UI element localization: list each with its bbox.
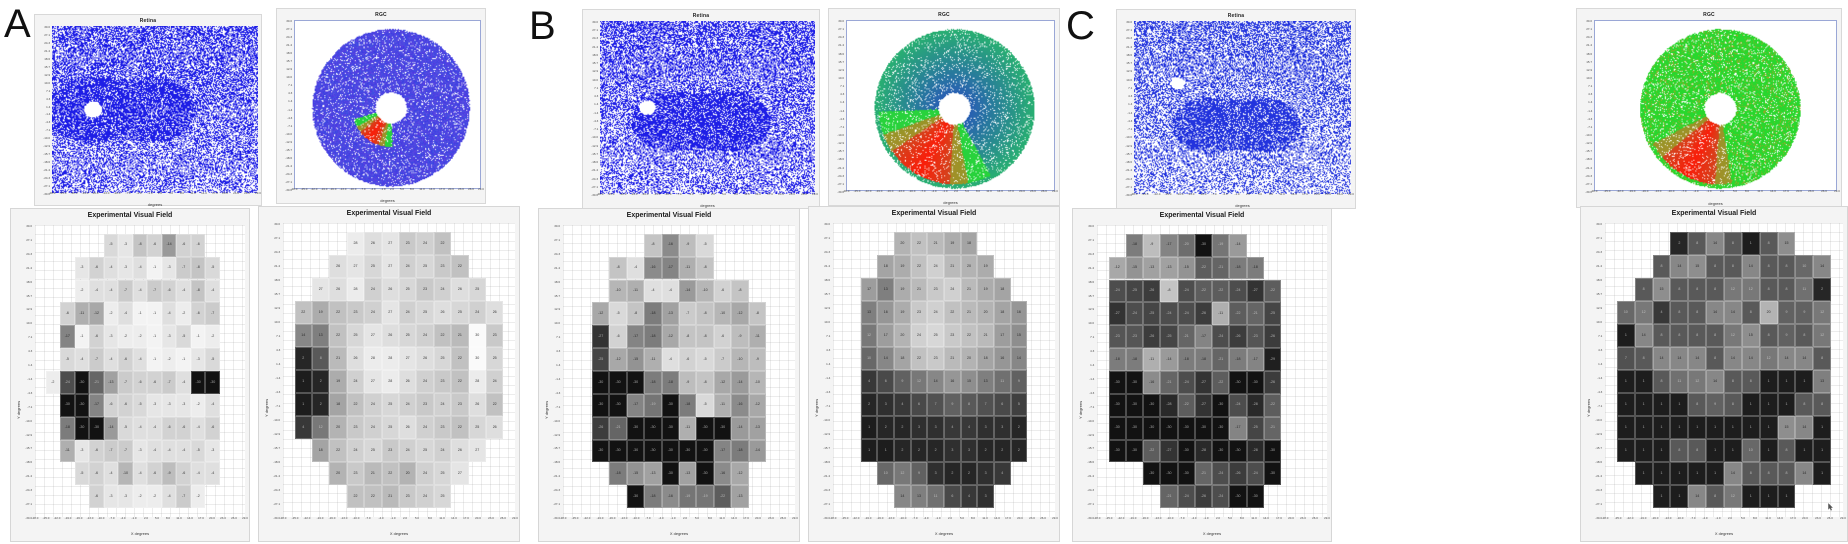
vf-cell: 1 bbox=[1742, 416, 1760, 439]
vf-cell: 24 bbox=[416, 416, 433, 439]
vf-cell: -8 bbox=[191, 257, 206, 280]
vf-cell: 12 bbox=[1724, 278, 1742, 301]
vf-cell: 24 bbox=[416, 485, 433, 508]
vf-cell: -26 bbox=[1143, 325, 1160, 348]
vf-cell: -6 bbox=[205, 417, 220, 440]
vf-cell: -17 bbox=[714, 440, 731, 463]
vf-cell: 22 bbox=[961, 324, 978, 347]
vf-left-grid-c: -18-9-17-20-30-19-14-12-15-13-13-15-22-2… bbox=[1097, 225, 1327, 517]
vf-cell: 1 bbox=[1688, 462, 1706, 485]
vf-cell: -8 bbox=[627, 302, 644, 325]
vf-cell: -21 bbox=[1247, 302, 1264, 325]
retina-yticks-a: 30.027.124.321.418.615.712.910.07.14.31.… bbox=[37, 26, 51, 193]
vf-cell: -24 bbox=[1229, 394, 1246, 417]
vf-cell: -16 bbox=[731, 394, 748, 417]
vf-cell: -6 bbox=[147, 234, 162, 257]
vf-cell: -6 bbox=[118, 394, 133, 417]
vf-left-xticks-a: -28.0-25.0-22.0-19.0-16.0-13.0-10.0-7.0-… bbox=[35, 517, 245, 527]
vf-cell: 8 bbox=[1778, 255, 1796, 278]
vf-cell: 8 bbox=[1653, 370, 1671, 393]
vf-cell: -30 bbox=[1212, 440, 1229, 463]
vf-cell: -16 bbox=[644, 257, 661, 280]
vf-cell: 15 bbox=[961, 370, 978, 393]
vf-cell: 6 bbox=[994, 393, 1011, 416]
vf-cell: -21 bbox=[1160, 371, 1177, 394]
vf-cell: -24 bbox=[1109, 280, 1126, 303]
vf-cell: 17 bbox=[877, 324, 894, 347]
vf-cell: -30 bbox=[60, 394, 75, 417]
vf-cell: -30 bbox=[1126, 394, 1143, 417]
vf-cell: 8 bbox=[1778, 439, 1796, 462]
retina-scatter-a bbox=[52, 26, 258, 193]
vf-left-xlabel-c: X degrees bbox=[1097, 531, 1327, 536]
vf-cell: -4 bbox=[133, 462, 148, 485]
vf-cell: -30 bbox=[1264, 462, 1281, 485]
vf-cell: -6 bbox=[133, 371, 148, 394]
vf-cell: 8 bbox=[1653, 255, 1671, 278]
vf-cell: 23 bbox=[944, 324, 961, 347]
vf-cell: 22 bbox=[451, 347, 468, 370]
vf-cell: 25 bbox=[451, 301, 468, 324]
vf-cell: 24 bbox=[434, 393, 451, 416]
vf-right-plot-b: 2022211918181922242120191713192123242119… bbox=[833, 223, 1055, 517]
vf-cell: 12 bbox=[1760, 347, 1778, 370]
vf-cell: 24 bbox=[399, 439, 416, 462]
vf-cell: 1 bbox=[1724, 439, 1742, 462]
vf-cell: -30 bbox=[1109, 394, 1126, 417]
vf-cell: 15 bbox=[1688, 255, 1706, 278]
vf-cell: -4 bbox=[133, 417, 148, 440]
vf-cell: 1 bbox=[1724, 416, 1742, 439]
vf-cell: -4 bbox=[89, 280, 104, 303]
vf-cell: 8 bbox=[1706, 347, 1724, 370]
vf-cell: -13 bbox=[662, 302, 679, 325]
vf-cell: -20 bbox=[1178, 234, 1195, 257]
vf-cell: 11 bbox=[1795, 278, 1813, 301]
vf-cell: 25 bbox=[434, 347, 451, 370]
vf-cell: -28 bbox=[1195, 440, 1212, 463]
vf-cell: -2 bbox=[191, 394, 206, 417]
vf-cell: -4 bbox=[176, 371, 191, 394]
vf-cell: 23 bbox=[927, 278, 944, 301]
vf-cell: -6 bbox=[162, 417, 177, 440]
vf-cell: 16 bbox=[994, 347, 1011, 370]
vf-cell: -18 bbox=[1126, 234, 1143, 257]
vf-cell: -5 bbox=[609, 302, 626, 325]
vf-cell: 19 bbox=[312, 301, 329, 324]
vf-cell: 27 bbox=[364, 324, 381, 347]
vf-cell: 2 bbox=[312, 370, 329, 393]
vf-cell: -12 bbox=[592, 302, 609, 325]
vf-cell: -5 bbox=[205, 348, 220, 371]
vf-cell: 14 bbox=[1688, 347, 1706, 370]
vf-cell: -29 bbox=[1264, 348, 1281, 371]
vf-cell: -30 bbox=[592, 394, 609, 417]
vf-cell: 1 bbox=[1688, 416, 1706, 439]
vf-cell: -27 bbox=[1109, 302, 1126, 325]
vf-cell: 14 bbox=[927, 370, 944, 393]
vf-cell: -18 bbox=[644, 371, 661, 394]
vf-cell: -6 bbox=[118, 348, 133, 371]
vf-cell: -8 bbox=[749, 302, 766, 325]
vf-cell: 14 bbox=[295, 324, 312, 347]
vf-cell: -24 bbox=[1178, 371, 1195, 394]
retina-xticks-c: -28.0-25.0-22.0-19.0-16.0-13.0-10.0-7.0-… bbox=[1134, 193, 1351, 203]
vf-cell: 3 bbox=[961, 439, 978, 462]
vf-cell: -16 bbox=[714, 462, 731, 485]
retina-figure-a: Retina 30.027.124.321.418.615.712.910.07… bbox=[34, 14, 262, 206]
vf-cell: 1 bbox=[1778, 485, 1796, 508]
vf-cell: -26 bbox=[1195, 485, 1212, 508]
vf-cell: -30 bbox=[662, 417, 679, 440]
vf-cell: 24 bbox=[927, 255, 944, 278]
vf-right-xticks-a: -28.0-25.0-22.0-19.0-16.0-13.0-10.0-7.0-… bbox=[283, 517, 515, 527]
vf-cell: -27 bbox=[1195, 394, 1212, 417]
vf-cell: 14 bbox=[1724, 301, 1742, 324]
vf-cell: 14 bbox=[894, 485, 911, 508]
vf-cell: -22 bbox=[1212, 371, 1229, 394]
vf-cell: 24 bbox=[364, 278, 381, 301]
vf-cell: -11 bbox=[679, 257, 696, 280]
polar-figure-b: RGC 30.027.124.321.418.615.712.910.07.14… bbox=[828, 8, 1060, 206]
vf-cell: 4 bbox=[961, 416, 978, 439]
vf-cell: -30 bbox=[1247, 371, 1264, 394]
vf-cell: -25 bbox=[1126, 280, 1143, 303]
vf-cell: -22 bbox=[1229, 302, 1246, 325]
vf-cell: -4 bbox=[133, 280, 148, 303]
vf-cell: -2 bbox=[133, 325, 148, 348]
polar-xticks-c: -28.0-25.0-22.0-19.0-16.0-13.0-10.0-7.0-… bbox=[1594, 190, 1837, 200]
vf-left-figure-a: Experimental Visual Field Y degrees 30.0… bbox=[10, 208, 250, 542]
vf-cell: 7 bbox=[927, 393, 944, 416]
vf-cell: 21 bbox=[382, 485, 399, 508]
vf-left-figure-b: Experimental Visual Field Y degrees 30.0… bbox=[538, 208, 800, 542]
vf-cell: 25 bbox=[416, 301, 433, 324]
vf-cell: 17 bbox=[994, 324, 1011, 347]
vf-cell: -7 bbox=[147, 280, 162, 303]
vf-left-figure-c: Experimental Visual Field Y degrees 30.0… bbox=[1072, 208, 1332, 542]
retina-yticks-c: 30.027.124.321.418.615.712.910.07.14.31.… bbox=[1119, 21, 1133, 194]
vf-cell: 30 bbox=[469, 347, 486, 370]
vf-cell: 22 bbox=[434, 324, 451, 347]
vf-cell: 11 bbox=[1670, 370, 1688, 393]
vf-cell: -13 bbox=[104, 371, 119, 394]
vf-cell: -6 bbox=[176, 234, 191, 257]
vf-cell: -9 bbox=[162, 462, 177, 485]
vf-cell: -1 bbox=[133, 302, 148, 325]
vf-cell: 1 bbox=[1635, 393, 1653, 416]
vf-cell: 8 bbox=[1724, 393, 1742, 416]
vf-cell: 25 bbox=[469, 416, 486, 439]
vf-cell: 3 bbox=[911, 416, 928, 439]
vf-cell: -8 bbox=[696, 257, 713, 280]
panel-letter-a: A bbox=[4, 4, 31, 44]
vf-cell: 28 bbox=[347, 278, 364, 301]
vf-cell: 26 bbox=[486, 301, 503, 324]
vf-cell: -5 bbox=[75, 462, 90, 485]
vf-cell: -30 bbox=[89, 417, 104, 440]
vf-left-yticks-c: 30.027.124.321.418.615.712.910.07.14.31.… bbox=[1081, 225, 1095, 517]
vf-cell: 4 bbox=[894, 393, 911, 416]
panel-letter-c: C bbox=[1066, 6, 1095, 46]
vf-cell: -4 bbox=[133, 257, 148, 280]
vf-cell: 24 bbox=[399, 393, 416, 416]
vf-cell: 4 bbox=[961, 485, 978, 508]
vf-cell: -26 bbox=[1143, 280, 1160, 303]
vf-cell: -11 bbox=[627, 280, 644, 303]
vf-cell: 22 bbox=[329, 439, 346, 462]
vf-cell: 12 bbox=[312, 416, 329, 439]
vf-cell: 21 bbox=[977, 324, 994, 347]
vf-cell: -7 bbox=[118, 440, 133, 463]
vf-cell: -24 bbox=[1229, 280, 1246, 303]
vf-cell: -2 bbox=[191, 485, 206, 508]
vf-cell: -26 bbox=[592, 417, 609, 440]
vf-cell: 13 bbox=[977, 370, 994, 393]
vf-cell: -17 bbox=[60, 325, 75, 348]
vf-cell: 23 bbox=[347, 416, 364, 439]
vf-cell: -8 bbox=[644, 234, 661, 257]
vf-cell: -7 bbox=[205, 302, 220, 325]
vf-cell: 10 bbox=[1742, 439, 1760, 462]
vf-cell: -3 bbox=[118, 257, 133, 280]
vf-cell: -2 bbox=[205, 325, 220, 348]
vf-cell: -30 bbox=[696, 462, 713, 485]
retina-xticks-a: -28.0-25.0-22.0-19.0-16.0-13.0-10.0-7.0-… bbox=[52, 192, 258, 202]
vf-cell: 1 bbox=[1670, 416, 1688, 439]
vf-cell: 14 bbox=[1653, 347, 1671, 370]
vf-right-plot-a: 2826272324222627252724252322272628242625… bbox=[283, 223, 515, 517]
vf-cell: -2 bbox=[147, 485, 162, 508]
vf-cell: 12 bbox=[1688, 370, 1706, 393]
vf-cell: 8 bbox=[1742, 462, 1760, 485]
vf-cell: -19 bbox=[696, 485, 713, 508]
vf-cell: -18 bbox=[1195, 348, 1212, 371]
vf-cell: 1 bbox=[295, 370, 312, 393]
vf-cell: 8 bbox=[1688, 393, 1706, 416]
vf-cell: 25 bbox=[486, 347, 503, 370]
vf-cell: 28 bbox=[347, 232, 364, 255]
vf-cell: 15 bbox=[1742, 324, 1760, 347]
vf-cell: -30 bbox=[1264, 440, 1281, 463]
vf-cell: 27 bbox=[347, 255, 364, 278]
vf-cell: -30 bbox=[1126, 440, 1143, 463]
vf-cell: -3 bbox=[147, 394, 162, 417]
vf-cell: -7 bbox=[118, 280, 133, 303]
vf-cell: 14 bbox=[1724, 462, 1742, 485]
vf-cell: -11 bbox=[75, 302, 90, 325]
vf-cell: 9 bbox=[1778, 301, 1796, 324]
vf-cell: 26 bbox=[399, 370, 416, 393]
vf-cell: -25 bbox=[1264, 302, 1281, 325]
vf-cell: -8 bbox=[679, 325, 696, 348]
vf-cell: -22 bbox=[1178, 394, 1195, 417]
vf-cell: -7 bbox=[89, 348, 104, 371]
vf-cell: 8 bbox=[1760, 462, 1778, 485]
vf-cell: -1 bbox=[147, 325, 162, 348]
vf-cell: 1 bbox=[1706, 416, 1724, 439]
vf-cell: 8 bbox=[1688, 324, 1706, 347]
vf-cell: -30 bbox=[1143, 394, 1160, 417]
vf-cell: -9 bbox=[1143, 234, 1160, 257]
vf-cell: -13 bbox=[1143, 257, 1160, 280]
vf-cell: -6 bbox=[162, 280, 177, 303]
vf-cell: 1 bbox=[1635, 416, 1653, 439]
vf-cell: 1 bbox=[1795, 439, 1813, 462]
vf-cell: 8 bbox=[1688, 301, 1706, 324]
vf-cell: 13 bbox=[911, 485, 928, 508]
vf-cell: 2 bbox=[944, 462, 961, 485]
vf-cell: 14 bbox=[1795, 347, 1813, 370]
vf-cell: 14 bbox=[1011, 347, 1028, 370]
vf-cell: 23 bbox=[416, 278, 433, 301]
vf-cell: 1 bbox=[1653, 393, 1671, 416]
vf-cell: 9 bbox=[1706, 393, 1724, 416]
vf-cell: -26 bbox=[1195, 302, 1212, 325]
vf-cell: 24 bbox=[416, 324, 433, 347]
vf-cell: -25 bbox=[592, 348, 609, 371]
vf-cell: -4 bbox=[104, 257, 119, 280]
vf-cell: 8 bbox=[1724, 370, 1742, 393]
vf-cell: 24 bbox=[434, 278, 451, 301]
polar-axes-a bbox=[294, 20, 481, 189]
retina-figure-b: Retina 30.027.124.321.418.615.712.910.07… bbox=[582, 9, 820, 209]
vf-cell: 4 bbox=[994, 462, 1011, 485]
vf-cell: 25 bbox=[927, 324, 944, 347]
vf-cell: -30 bbox=[75, 371, 90, 394]
vf-cell: -4 bbox=[104, 348, 119, 371]
vf-cell: -26 bbox=[1264, 325, 1281, 348]
retina-xticks-b: -28.0-25.0-22.0-19.0-16.0-13.0-10.0-7.0-… bbox=[600, 193, 815, 203]
vf-cell: 26 bbox=[329, 255, 346, 278]
vf-cell: -15 bbox=[627, 348, 644, 371]
vf-cell: 1 bbox=[1617, 393, 1635, 416]
vf-cell: 2 bbox=[312, 393, 329, 416]
vf-cell: 24 bbox=[434, 439, 451, 462]
vf-right-yticks-c: 30.027.124.321.418.615.712.910.07.14.31.… bbox=[1589, 223, 1603, 517]
retina-axes-c bbox=[1134, 21, 1351, 194]
vf-cell: 27 bbox=[469, 439, 486, 462]
vf-cell: -4 bbox=[205, 394, 220, 417]
vf-cell: 2 bbox=[894, 439, 911, 462]
vf-cell: 22 bbox=[944, 301, 961, 324]
vf-cell: -30 bbox=[1160, 462, 1177, 485]
vf-cell: -6 bbox=[60, 302, 75, 325]
vf-cell: 1 bbox=[1706, 462, 1724, 485]
vf-cell: 8 bbox=[1724, 232, 1742, 255]
polar-figure-c: RGC 30.027.124.321.418.615.712.910.07.14… bbox=[1576, 8, 1842, 208]
vf-cell: 26 bbox=[399, 416, 416, 439]
vf-cell: 8 bbox=[1813, 393, 1831, 416]
vf-cell: -17 bbox=[1229, 417, 1246, 440]
vf-cell: 24 bbox=[347, 439, 364, 462]
vf-cell: 25 bbox=[382, 393, 399, 416]
vf-cell: 23 bbox=[382, 439, 399, 462]
vf-cell: -5 bbox=[696, 348, 713, 371]
vf-cell: 8 bbox=[1760, 278, 1778, 301]
vf-cell: 20 bbox=[977, 301, 994, 324]
vf-cell: 10 bbox=[861, 347, 878, 370]
vf-cell: -3 bbox=[104, 485, 119, 508]
vf-cell: -5 bbox=[133, 394, 148, 417]
vf-cell: -22 bbox=[1264, 280, 1281, 303]
vf-cell: 14 bbox=[877, 347, 894, 370]
vf-cell: 20 bbox=[399, 462, 416, 485]
vf-cell: -4 bbox=[104, 462, 119, 485]
vf-cell: -10 bbox=[731, 348, 748, 371]
vf-cell: -10 bbox=[609, 280, 626, 303]
vf-cell: -27 bbox=[1247, 280, 1264, 303]
vf-cell: 20 bbox=[961, 255, 978, 278]
vf-cell: 21 bbox=[927, 232, 944, 255]
vf-cell: -3 bbox=[205, 440, 220, 463]
vf-cell: -18 bbox=[609, 462, 626, 485]
vf-cell: -30 bbox=[1229, 485, 1246, 508]
vf-cell: 1 bbox=[1635, 370, 1653, 393]
vf-cell: -4 bbox=[191, 417, 206, 440]
retina-axes-a bbox=[52, 26, 258, 193]
vf-cell: -24 bbox=[1178, 280, 1195, 303]
vf-cell: -6 bbox=[679, 348, 696, 371]
vf-right-title-c: Experimental Visual Field bbox=[1581, 210, 1847, 218]
retina-title-b: Retina bbox=[583, 11, 819, 21]
vf-cell: 8 bbox=[1653, 324, 1671, 347]
vf-cell: 22 bbox=[382, 462, 399, 485]
vf-cell: 3 bbox=[927, 462, 944, 485]
vf-cell: -30 bbox=[592, 440, 609, 463]
vf-cell: -5 bbox=[60, 348, 75, 371]
vf-cell: 24 bbox=[416, 232, 433, 255]
vf-cell: -14 bbox=[162, 234, 177, 257]
vf-cell: 13 bbox=[312, 324, 329, 347]
vf-left-xticks-c: -28.0-25.0-22.0-19.0-16.0-13.0-10.0-7.0-… bbox=[1097, 517, 1327, 527]
vf-cell: 23 bbox=[347, 301, 364, 324]
vf-cell: -8 bbox=[1160, 280, 1177, 303]
vf-cell: 23 bbox=[451, 393, 468, 416]
vf-cell: -3 bbox=[118, 234, 133, 257]
vf-cell: 1 bbox=[1742, 232, 1760, 255]
vf-cell: -8 bbox=[696, 302, 713, 325]
vf-cell: 24 bbox=[364, 301, 381, 324]
vf-cell: -21 bbox=[1212, 257, 1229, 280]
vf-cell: 19 bbox=[894, 301, 911, 324]
vf-cell: 8 bbox=[1706, 255, 1724, 278]
vf-cell: 8 bbox=[1670, 439, 1688, 462]
vf-cell: -30 bbox=[627, 417, 644, 440]
polar-axes-b bbox=[846, 20, 1055, 191]
vf-cell: -9 bbox=[679, 234, 696, 257]
vf-cell: 8 bbox=[1760, 255, 1778, 278]
vf-cell: 25 bbox=[399, 278, 416, 301]
polar-xticks-a: -28.0-25.0-22.0-19.0-16.0-13.0-10.0-7.0-… bbox=[294, 188, 481, 198]
vf-cell: -5 bbox=[176, 325, 191, 348]
vf-cell: -18 bbox=[1109, 348, 1126, 371]
vf-right-xlabel-c: X degrees bbox=[1605, 531, 1843, 536]
vf-cell: 9 bbox=[911, 462, 928, 485]
vf-cell: -24 bbox=[1178, 302, 1195, 325]
vf-cell: -24 bbox=[60, 371, 75, 394]
polar-figure-a: RGC 30.027.124.321.418.615.712.910.07.14… bbox=[276, 8, 486, 204]
vf-cell: 8 bbox=[1813, 347, 1831, 370]
vf-cell: 1 bbox=[1760, 485, 1778, 508]
vf-cell: 8 bbox=[1635, 278, 1653, 301]
vf-cell: -9 bbox=[731, 325, 748, 348]
vf-cell: -22 bbox=[1195, 257, 1212, 280]
vf-left-yticks-a: 30.027.124.321.418.615.712.910.07.14.31.… bbox=[19, 225, 33, 517]
vf-cell: -30 bbox=[1178, 462, 1195, 485]
vf-cell: 24 bbox=[399, 301, 416, 324]
vf-cell: 12 bbox=[894, 462, 911, 485]
